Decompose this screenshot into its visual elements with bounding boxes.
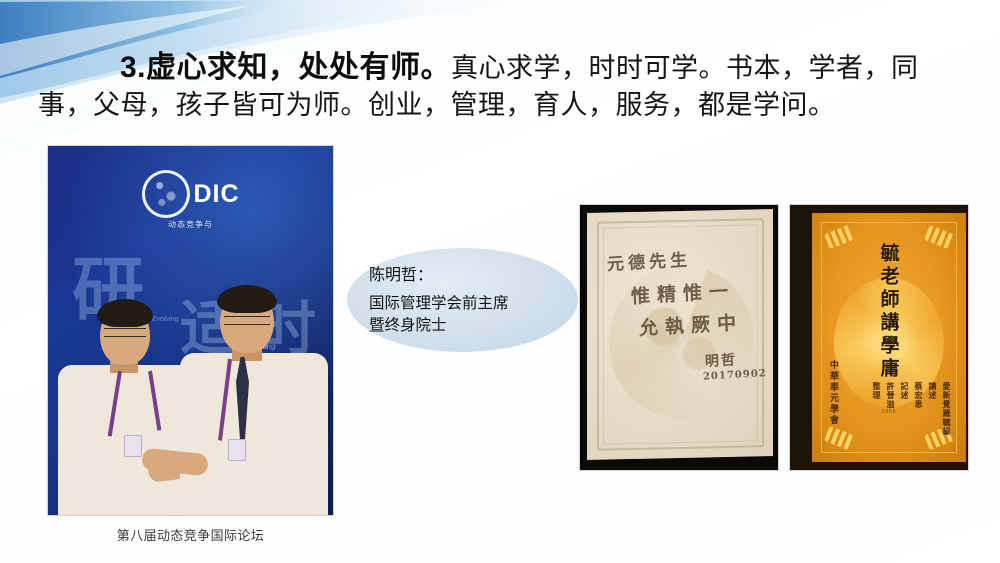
headline-paragraph: 3.虚心求知，处处有师。真心求学，时时可学。书本，学者，同事，父母，孩子皆可为师… (38, 48, 963, 124)
book-credit-editor-role: 記述 (899, 382, 910, 436)
person-right-badge (228, 439, 246, 461)
callout-role-line-2: 暨终身院士 (369, 315, 569, 337)
book-credit-editor: 蔡宏恩 (913, 382, 924, 436)
book-publisher: 中華奉元學會 (828, 360, 841, 426)
book-credits: 愛新覺羅毓鋆 講述 蔡宏恩 記述 許晉溢 整理 (871, 382, 952, 436)
person-right (176, 263, 333, 515)
person-right-hair (217, 285, 277, 313)
slide-canvas: 3.虚心求知，处处有师。真心求学，时时可学。书本，学者，同事，父母，孩子皆可为师… (0, 0, 1000, 563)
person-left-hair (97, 299, 153, 327)
callout-text-block: 陈明哲： 国际管理学会前主席 暨终身院士 (369, 265, 569, 337)
book-title: 毓老師講學庸 (876, 243, 903, 381)
book-cover-photo: 毓老師講學庸 1906 愛新覺羅毓鋆 講述 蔡宏恩 記述 許晉溢 整理 中華奉元… (790, 205, 968, 470)
calligraphy-photo: 元德先生 惟精惟一 允執厥中 明哲 20170902 (580, 205, 778, 470)
person-right-shirt (180, 353, 328, 515)
headline-emphasis: 3.虚心求知，处处有师。 (120, 51, 451, 84)
calligraphy-line-1: 元德先生 (607, 245, 692, 275)
book-cover: 毓老師講學庸 1906 愛新覺羅毓鋆 講述 蔡宏恩 記述 許晉溢 整理 中華奉元… (812, 213, 966, 462)
calligraphy-paper: 元德先生 惟精惟一 允執厥中 明哲 20170902 (587, 209, 773, 460)
globe-icon (141, 170, 189, 218)
dic-logo-word: DIC (193, 180, 239, 209)
book-credit-compiler-role: 整理 (871, 382, 882, 436)
book-credit-author-role: 講述 (927, 382, 938, 436)
person-left-badge (124, 435, 142, 457)
person-callout-oval: 陈明哲： 国际管理学会前主席 暨终身院士 (347, 248, 578, 352)
person-right-glasses (224, 316, 270, 325)
person-left-glasses (104, 328, 146, 337)
book-credit-author: 愛新覺羅毓鋆 (941, 382, 952, 436)
photo-caption: 第八届动态竞争国际论坛 (48, 525, 333, 544)
book-credit-compiler: 許晉溢 (885, 382, 896, 436)
dic-logo: DIC 动态竞争与 (141, 170, 239, 230)
callout-person-name: 陈明哲： (369, 265, 569, 288)
calligraphy-signature: 明哲 (705, 349, 738, 371)
forum-photo: DIC 动态竞争与 研 适 时 Evolving Adapting 竞争与企业 … (48, 146, 333, 515)
callout-role-line-1: 国际管理学会前主席 (369, 293, 569, 315)
dic-logo-subtitle: 动态竞争与 (141, 219, 239, 230)
